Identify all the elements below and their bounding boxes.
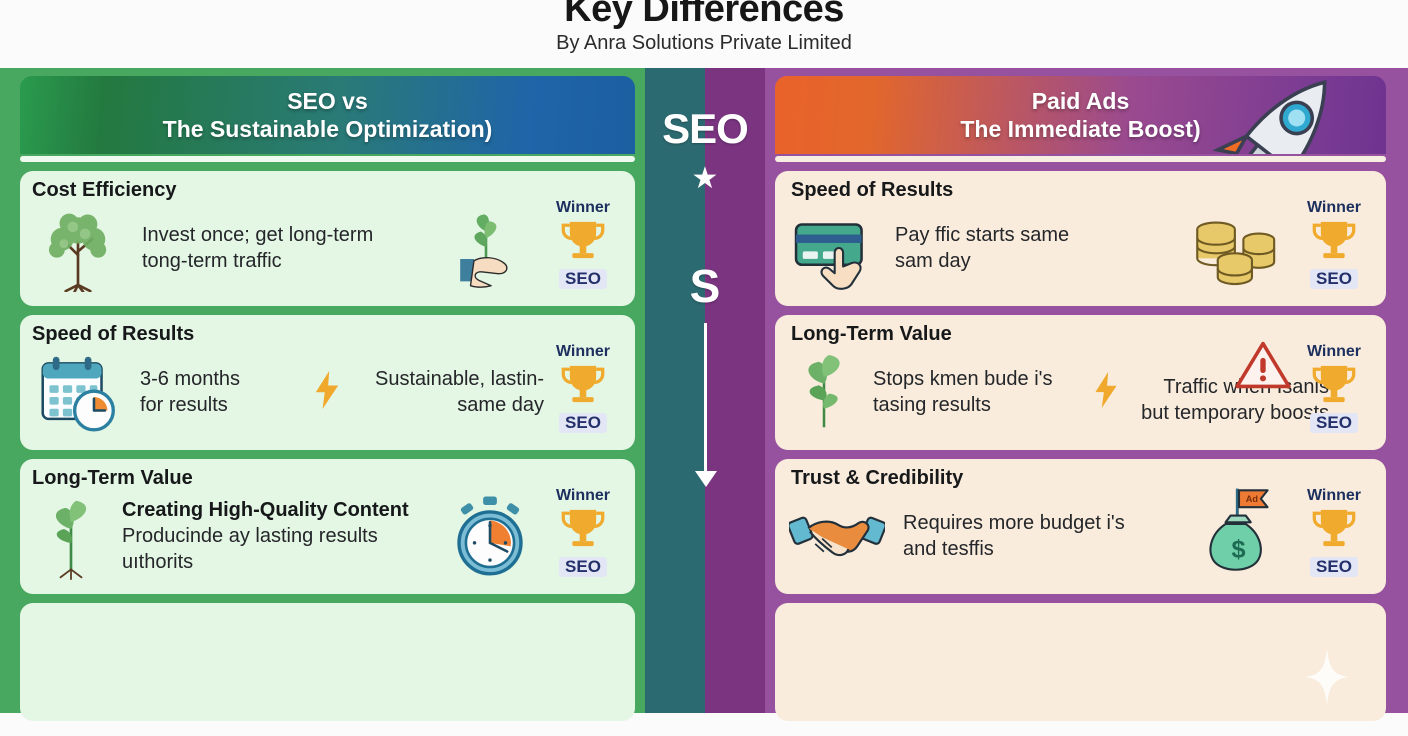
card-title: Speed of Results — [791, 179, 1374, 201]
page-title: Key Differences — [0, 0, 1408, 26]
svg-text:Ad: Ad — [1246, 494, 1259, 504]
trophy-icon — [556, 505, 610, 551]
winner-badge: Winner SEO — [1298, 343, 1370, 433]
winner-label: Winner — [1298, 487, 1370, 505]
comparison-board: SEO vs The Sustainable Optimization) Cos… — [0, 68, 1408, 713]
lightning-bolt-icon — [1089, 372, 1123, 413]
winner-badge: Winner SEO — [547, 199, 619, 289]
winner-value: SEO — [1310, 269, 1358, 289]
center-content: SEO ★ S — [645, 68, 765, 713]
winner-label: Winner — [547, 199, 619, 217]
hand-sprout-icon — [441, 199, 531, 295]
winner-badge: Winner SEO — [547, 343, 619, 433]
winner-badge: Winner SEO — [1298, 487, 1370, 577]
paid-ads-column: Paid Ads The Immediate Boost) Speed — [765, 68, 1408, 713]
card-body: Requires more budget i's and tesffis Ad … — [787, 489, 1374, 583]
paid-card-speed-of-results[interactable]: Speed of Results Pay — [775, 171, 1386, 306]
card-body: Stops kmen bude i's tasing results Traff… — [787, 345, 1374, 439]
card-text-heading: Creating High-Quality Content — [122, 497, 409, 523]
card-text-primary: Creating High-Quality Content Producinde… — [122, 497, 409, 575]
paid-ads-card-list: Speed of Results Pay — [775, 171, 1386, 721]
card-text-primary: Pay ffic starts same sam day — [895, 222, 1069, 274]
svg-text:$: $ — [1231, 536, 1245, 564]
seo-column: SEO vs The Sustainable Optimization) Cos… — [0, 68, 645, 713]
center-letter: S — [690, 263, 721, 309]
winner-label: Winner — [547, 487, 619, 505]
winner-value: SEO — [559, 557, 607, 577]
center-divider: SEO ★ S — [645, 68, 765, 713]
warning-triangle-icon — [1232, 339, 1294, 391]
seo-header-line2: The Sustainable Optimization) — [163, 116, 493, 142]
center-seo-label: SEO — [662, 105, 748, 153]
sparkle-icon — [1304, 649, 1350, 705]
winner-value: SEO — [1310, 413, 1358, 433]
seo-card-empty[interactable] — [20, 603, 635, 721]
tree-icon — [32, 202, 124, 294]
leaf-plant-icon — [787, 349, 861, 435]
paid-ads-header-text: Paid Ads The Immediate Boost) — [960, 87, 1200, 143]
seo-header-text: SEO vs The Sustainable Optimization) — [163, 87, 493, 143]
lightning-bolt-icon — [310, 371, 344, 414]
trophy-icon — [1307, 505, 1361, 551]
card-body: Pay ffic starts same sam day — [787, 201, 1374, 295]
seo-card-cost-efficiency[interactable]: Cost Efficiency — [20, 171, 635, 306]
card-title: Long-Term Value — [32, 467, 623, 489]
card-text-secondary: Sustainable, lastin- same day — [354, 366, 544, 418]
winner-value: SEO — [559, 413, 607, 433]
seo-column-header: SEO vs The Sustainable Optimization) — [20, 76, 635, 154]
trophy-icon — [1307, 217, 1361, 263]
money-bag-ad-icon: Ad $ — [1194, 479, 1284, 579]
calendar-clock-icon — [32, 349, 124, 435]
seo-card-list: Cost Efficiency — [20, 171, 635, 721]
winner-label: Winner — [1298, 343, 1370, 361]
winner-label: Winner — [547, 343, 619, 361]
star-icon: ★ — [692, 165, 719, 193]
paid-ads-column-header: Paid Ads The Immediate Boost) — [775, 76, 1386, 154]
trophy-icon — [556, 217, 610, 263]
paid-card-long-term-value[interactable]: Long-Term Value Stops — [775, 315, 1386, 450]
card-body: Invest once; get long-term tong-term tra… — [32, 201, 623, 295]
card-body: Creating High-Quality Content Producinde… — [32, 489, 623, 583]
card-text-primary: Stops kmen bude i's tasing results — [873, 366, 1089, 418]
stopwatch-icon — [445, 489, 535, 583]
trophy-icon — [1307, 361, 1361, 407]
page-subtitle: By Anra Solutions Private Limited — [0, 30, 1408, 56]
paid-ads-header-rule — [775, 154, 1386, 164]
down-arrow-icon — [704, 323, 707, 473]
card-title: Speed of Results — [32, 323, 623, 345]
card-text-primary: 3-6 months for results — [140, 366, 310, 418]
paid-ads-header-line2: The Immediate Boost) — [960, 116, 1200, 142]
card-body: 3-6 months for results Sustainable, last… — [32, 345, 623, 439]
paid-ads-header-line1: Paid Ads — [1032, 88, 1130, 114]
credit-card-click-icon — [787, 205, 879, 291]
seo-card-speed-of-results[interactable]: Speed of Results — [20, 315, 635, 450]
card-text-primary: Requires more budget i's and tesffis — [903, 510, 1125, 562]
winner-label: Winner — [1298, 199, 1370, 217]
trophy-icon — [556, 361, 610, 407]
handshake-icon — [787, 499, 887, 573]
infographic-page: Key Differences By Anra Solutions Privat… — [0, 0, 1408, 736]
winner-badge: Winner SEO — [547, 487, 619, 577]
coins-icon — [1186, 207, 1282, 291]
seo-header-line1: SEO vs — [287, 88, 368, 114]
winner-value: SEO — [559, 269, 607, 289]
sprout-icon — [32, 491, 110, 581]
paid-card-empty[interactable] — [775, 603, 1386, 721]
paid-card-trust-credibility[interactable]: Trust & Credibility R — [775, 459, 1386, 594]
rocket-icon — [1174, 76, 1373, 154]
card-text-primary: Invest once; get long-term tong-term tra… — [142, 222, 373, 274]
card-title: Cost Efficiency — [32, 179, 623, 201]
winner-value: SEO — [1310, 557, 1358, 577]
seo-header-rule — [20, 154, 635, 164]
card-title: Trust & Credibility — [791, 467, 1374, 489]
title-bar: Key Differences By Anra Solutions Privat… — [0, 0, 1408, 68]
winner-badge: Winner SEO — [1298, 199, 1370, 289]
seo-card-long-term-value[interactable]: Long-Term Value — [20, 459, 635, 594]
